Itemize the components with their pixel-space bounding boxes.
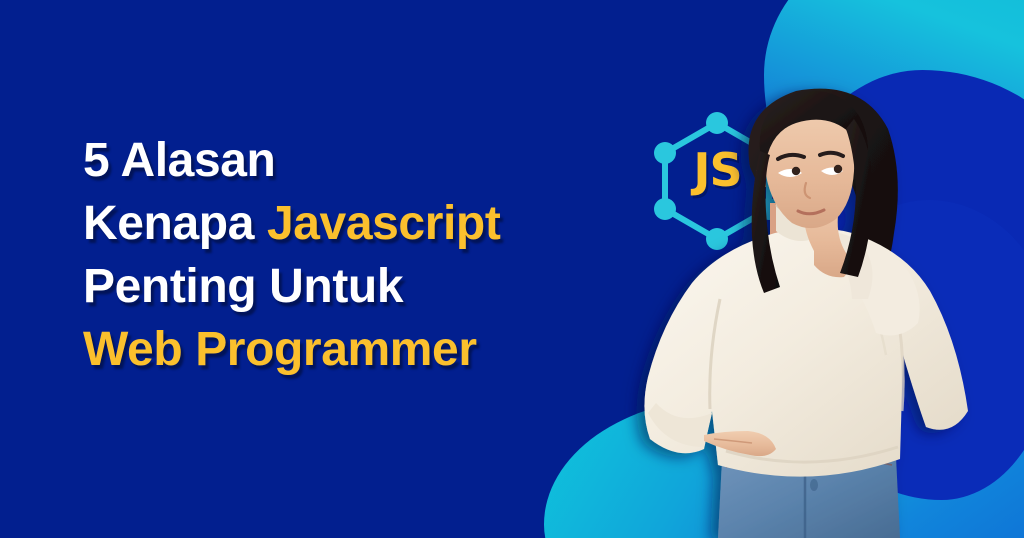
headline-line-4: Web Programmer: [83, 318, 643, 381]
headline: 5 Alasan Kenapa Javascript Penting Untuk…: [83, 129, 643, 381]
headline-line-2-white-text: Kenapa: [83, 197, 267, 250]
thinking-woman-illustration: [600, 55, 1020, 538]
headline-line-3: Penting Untuk: [83, 255, 643, 318]
banner-root: JS: [0, 0, 1024, 538]
headline-line-3-text: Penting Untuk: [83, 260, 403, 313]
woman-figure-icon: [600, 55, 1020, 538]
headline-line-4-text: Web Programmer: [83, 323, 477, 376]
headline-line-1: 5 Alasan: [83, 129, 643, 192]
headline-line-1-text: 5 Alasan: [83, 134, 275, 187]
headline-line-2-yellow-text: Javascript: [267, 197, 501, 250]
headline-line-2: Kenapa Javascript: [83, 192, 643, 255]
